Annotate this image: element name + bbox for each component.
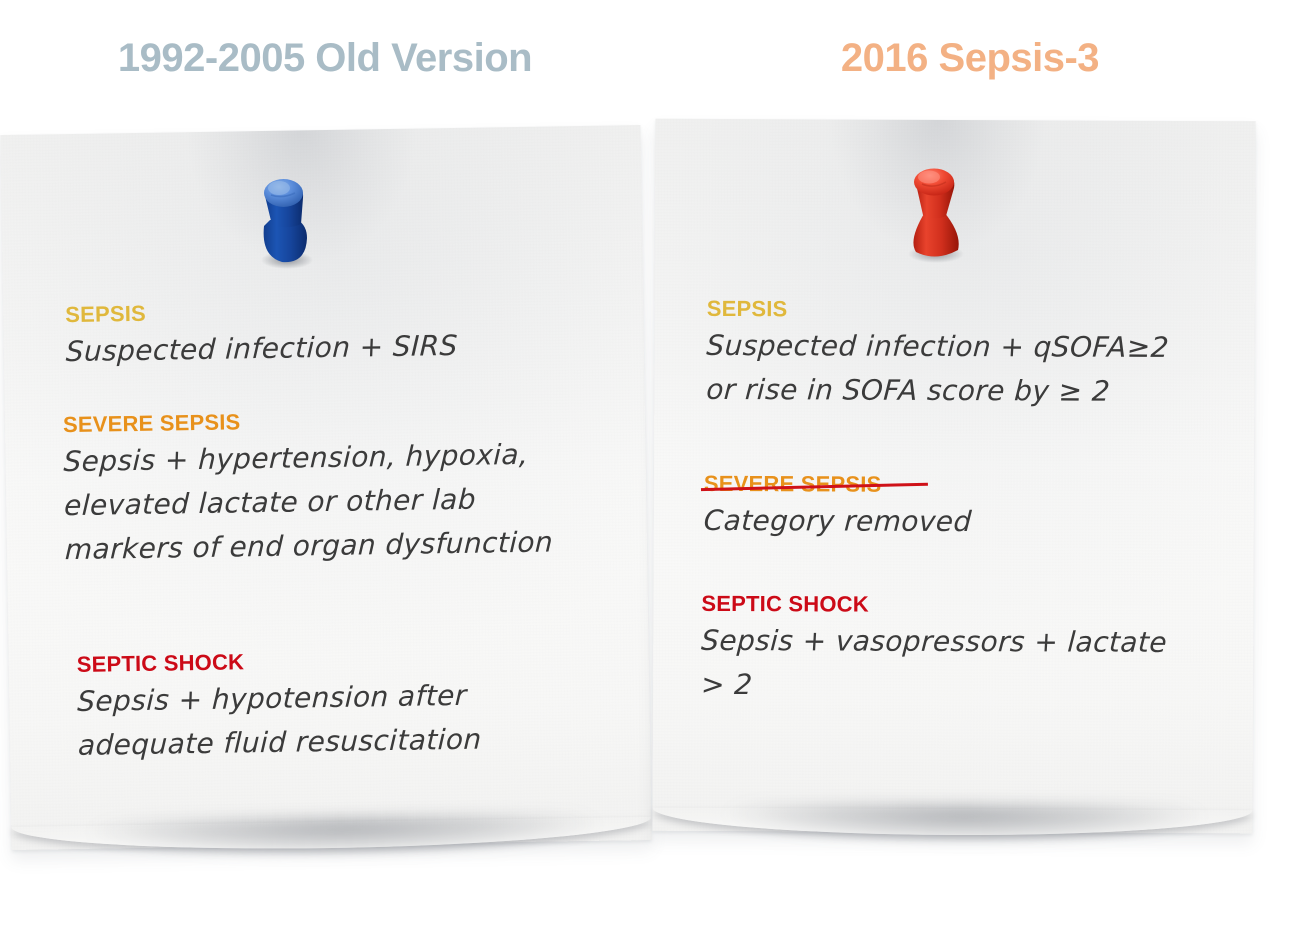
section-text-sepsis: Suspected infection + qSOFA≥2 or rise in… bbox=[706, 324, 1254, 415]
section-septic-shock-new: SEPTIC SHOCK Sepsis + vasopressors + lac… bbox=[701, 591, 1254, 710]
section-severe-sepsis-old: SEVERE SEPSIS Sepsis + hypertension, hyp… bbox=[63, 403, 647, 573]
page-title-sepsis-3: 2016 Sepsis-3 bbox=[650, 36, 1290, 81]
section-heading-severe-sepsis: SEVERE SEPSIS bbox=[63, 409, 241, 438]
text-line: adequate fluid resuscitation bbox=[77, 715, 651, 768]
text-line: Sepsis + vasopressors + lactate bbox=[700, 619, 1255, 666]
section-text-septic-shock: Sepsis + vasopressors + lactate > 2 bbox=[701, 619, 1253, 710]
paper-sheet-right: SEPSIS Suspected infection + qSOFA≥2 or … bbox=[652, 119, 1255, 834]
section-text-septic-shock: Sepsis + hypotension after adequate flui… bbox=[77, 671, 650, 768]
section-severe-sepsis-removed: SEVERE SEPSIS Category removed bbox=[704, 471, 1254, 546]
text-line: or rise in SOFA score by ≥ 2 bbox=[705, 368, 1256, 415]
section-sepsis-old: SEPSIS Suspected infection + SIRS bbox=[65, 293, 644, 374]
section-sepsis-new: SEPSIS Suspected infection + qSOFA≥2 or … bbox=[706, 296, 1255, 415]
paper-sheet-left: SEPSIS Suspected infection + SIRS SEVERE… bbox=[0, 125, 651, 850]
note-card-sepsis-3: SEPSIS Suspected infection + qSOFA≥2 or … bbox=[652, 119, 1255, 834]
text-line: Suspected infection + qSOFA≥2 bbox=[705, 324, 1256, 371]
section-heading-severe-sepsis-struck: SEVERE SEPSIS bbox=[704, 471, 882, 498]
note-content-left: SEPSIS Suspected infection + SIRS SEVERE… bbox=[0, 125, 651, 850]
text-line: markers of end organ dysfunction bbox=[64, 519, 648, 572]
section-heading-sepsis: SEPSIS bbox=[707, 296, 788, 322]
section-heading-septic-shock: SEPTIC SHOCK bbox=[77, 649, 245, 678]
page-title-old-version: 1992-2005 Old Version bbox=[0, 36, 650, 81]
note-card-old-version: SEPSIS Suspected infection + SIRS SEVERE… bbox=[0, 125, 651, 850]
text-line: Suspected infection + SIRS bbox=[65, 321, 645, 374]
section-text-severe-sepsis: Sepsis + hypertension, hypoxia, elevated… bbox=[63, 431, 647, 573]
section-text-severe-sepsis: Category removed bbox=[704, 499, 1254, 546]
text-line: Category removed bbox=[703, 499, 1256, 546]
note-content-right: SEPSIS Suspected infection + qSOFA≥2 or … bbox=[652, 119, 1255, 834]
section-text-sepsis: Suspected infection + SIRS bbox=[65, 321, 644, 374]
section-heading-septic-shock: SEPTIC SHOCK bbox=[701, 591, 869, 618]
section-heading-sepsis: SEPSIS bbox=[65, 301, 146, 328]
text-line: > 2 bbox=[700, 663, 1255, 710]
section-septic-shock-old: SEPTIC SHOCK Sepsis + hypotension after … bbox=[77, 643, 651, 768]
